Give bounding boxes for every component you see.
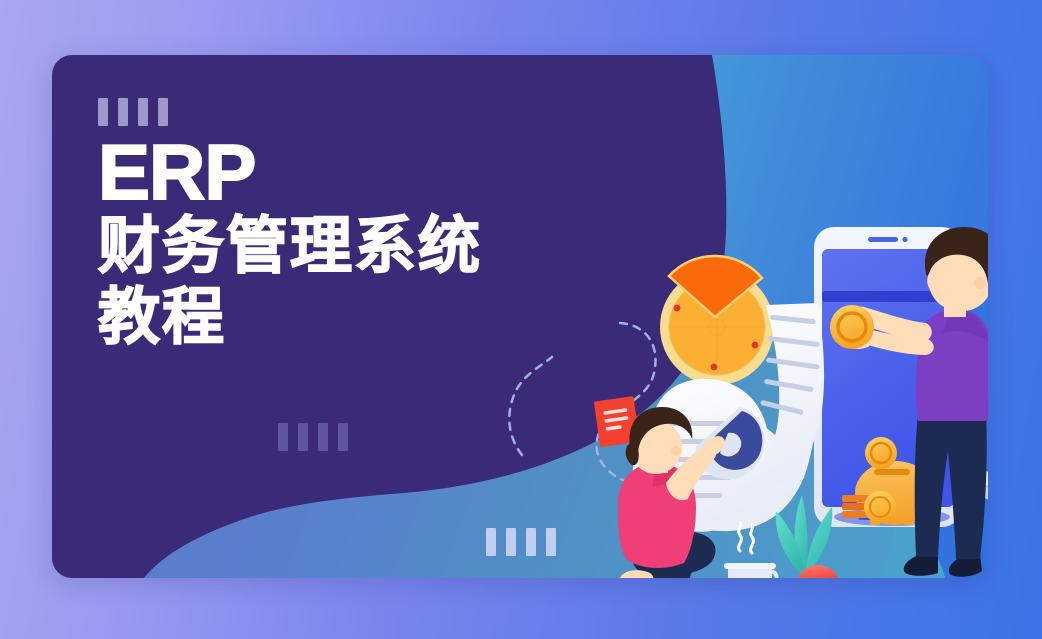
poster-canvas: ERP 财务管理系统 教程 xyxy=(0,0,1042,639)
dashes-mid xyxy=(278,423,348,451)
headline-line3: 教程 xyxy=(98,284,482,350)
headline-line2: 财务管理系统 xyxy=(98,213,482,279)
pie-dot xyxy=(711,364,718,371)
pie-dot xyxy=(674,305,681,312)
headline-erp: ERP xyxy=(98,138,482,207)
dashes-bottom xyxy=(486,528,556,556)
dashes-top xyxy=(98,98,168,126)
headline-block: ERP 财务管理系统 教程 xyxy=(98,138,482,350)
